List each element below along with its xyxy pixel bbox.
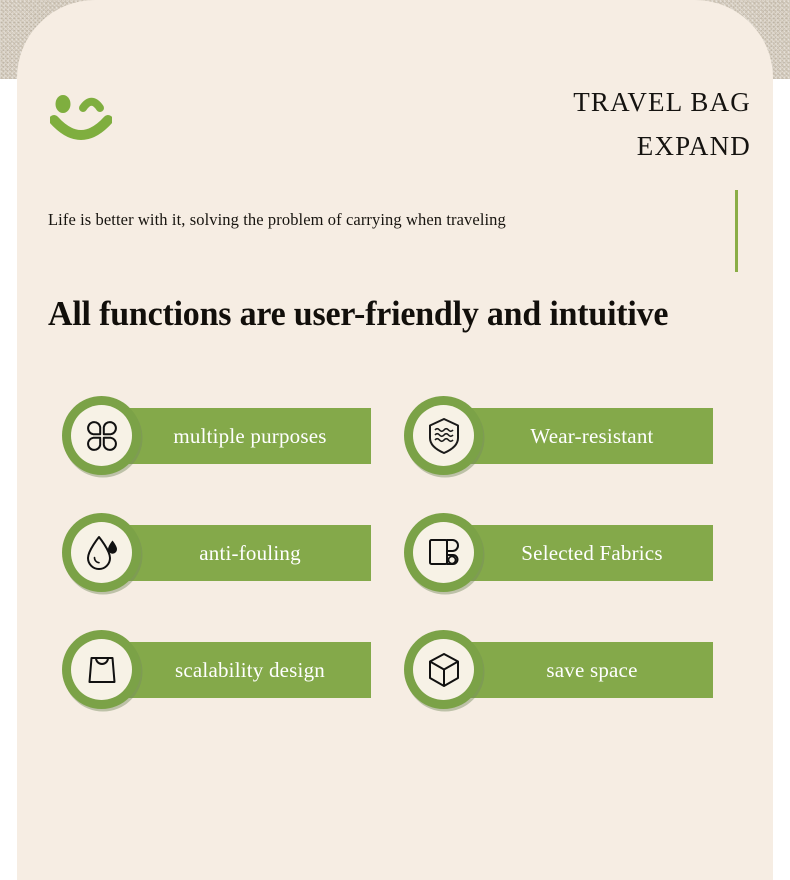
page-header: TRAVEL BAG EXPAND xyxy=(17,72,773,182)
feature-badge xyxy=(62,630,141,709)
accent-rule xyxy=(735,190,738,272)
feature-item-scalability-design[interactable]: scalability design xyxy=(81,642,371,698)
feature-item-wear-resistant[interactable]: Wear-resistant xyxy=(423,408,713,464)
feature-item-anti-fouling[interactable]: anti-fouling xyxy=(81,525,371,581)
winking-smiley-face-icon xyxy=(50,92,112,148)
feature-badge xyxy=(62,396,141,475)
feature-item-save-space[interactable]: save space xyxy=(423,642,713,698)
brand-title-line-2: EXPAND xyxy=(573,124,751,168)
brand-title-line-1: TRAVEL BAG xyxy=(573,80,751,124)
four-petal-clover-icon xyxy=(71,405,132,466)
cube-icon xyxy=(413,639,474,700)
tote-bag-icon xyxy=(71,639,132,700)
subtitle-row: Life is better with it, solving the prob… xyxy=(17,190,773,272)
feature-badge xyxy=(404,630,483,709)
feature-badge xyxy=(404,396,483,475)
brand-title: TRAVEL BAG EXPAND xyxy=(573,80,751,168)
shield-waves-icon xyxy=(413,405,474,466)
page-card: TRAVEL BAG EXPAND Life is better with it… xyxy=(17,0,773,880)
water-droplet-icon xyxy=(71,522,132,583)
feature-row: multiple purposes Wear-resistant xyxy=(17,408,773,525)
feature-list: multiple purposes Wear-resistant xyxy=(17,408,773,759)
section-heading: All functions are user-friendly and intu… xyxy=(48,294,727,334)
feature-badge xyxy=(404,513,483,592)
feature-item-selected-fabrics[interactable]: Selected Fabrics xyxy=(423,525,713,581)
feature-row: anti-fouling Selected Fabrics xyxy=(17,525,773,642)
subtitle-text: Life is better with it, solving the prob… xyxy=(48,210,506,230)
fabric-roll-icon xyxy=(413,522,474,583)
feature-item-multiple-purposes[interactable]: multiple purposes xyxy=(81,408,371,464)
feature-badge xyxy=(62,513,141,592)
feature-row: scalability design save space xyxy=(17,642,773,759)
